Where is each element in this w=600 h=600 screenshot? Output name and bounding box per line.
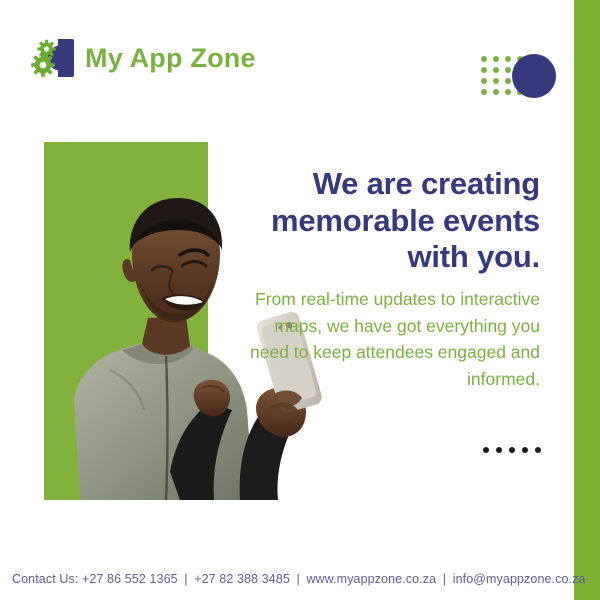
- footer-separator-2: |: [293, 572, 302, 586]
- page-title: We are creating memorable events with yo…: [210, 166, 540, 276]
- footer-phone-secondary[interactable]: +27 82 388 3485: [194, 572, 290, 586]
- footer-website-link[interactable]: www.myappzone.co.za: [306, 572, 436, 586]
- brand-logo[interactable]: My App Zone: [30, 36, 256, 80]
- footer-phone-primary[interactable]: +27 86 552 1365: [82, 572, 178, 586]
- right-edge-green-bar: [574, 0, 600, 600]
- navy-circle-icon: [512, 54, 556, 98]
- footer-contact-bar: Contact Us: +27 86 552 1365 | +27 82 388…: [12, 572, 586, 586]
- brand-wordmark: My App Zone: [85, 45, 256, 72]
- top-right-decoration: [481, 54, 551, 98]
- poster-canvas: My App Zone: [0, 0, 600, 600]
- gears-logo-icon: [30, 36, 78, 80]
- footer-contact-label: Contact Us:: [12, 572, 78, 586]
- footer-email-link[interactable]: info@myappzone.co.za: [453, 572, 586, 586]
- footer-separator-3: |: [440, 572, 449, 586]
- footer-separator-1: |: [181, 572, 190, 586]
- hero-body-text: From real-time updates to interactive ma…: [240, 286, 540, 392]
- dot-row-icon: [483, 447, 541, 453]
